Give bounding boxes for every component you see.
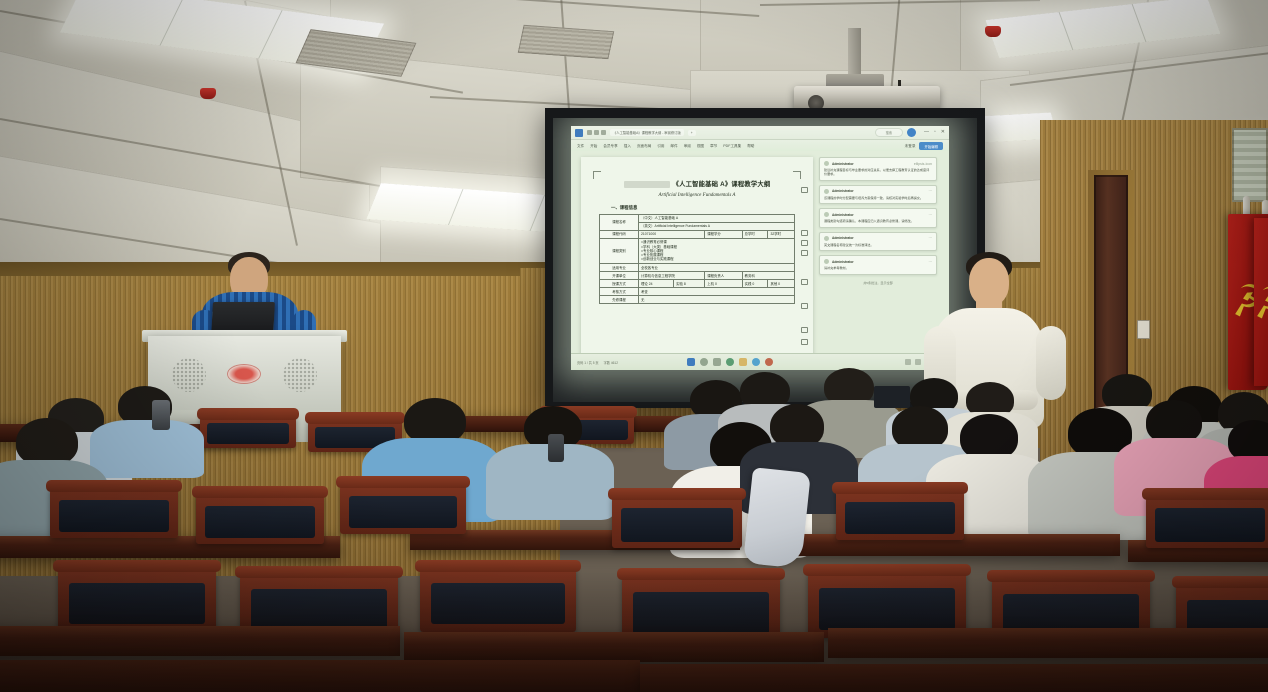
margin-corner-icon	[793, 171, 801, 179]
windows-start-icon[interactable]	[687, 358, 695, 366]
minimize-button[interactable]: —	[924, 130, 929, 135]
cell: 实验 8	[674, 280, 705, 288]
head	[969, 258, 1009, 306]
document-page[interactable]: 《人工智能基础 A》课程教学大纲 Artificial Intelligence…	[581, 157, 813, 361]
menu-item[interactable]: 审阅	[684, 144, 691, 149]
comment-anchor-icon[interactable]	[801, 240, 808, 246]
ellipsis-icon[interactable]: ellipsis-icon	[914, 162, 932, 166]
comment-author: Administrator	[832, 260, 854, 264]
section-heading: 一、课程信息	[611, 205, 813, 211]
avatar[interactable]	[907, 128, 916, 137]
row-label: 课程代码	[600, 231, 639, 239]
cell: 计算机与信息工程学院	[639, 272, 705, 280]
row-label: 先修课程	[600, 296, 639, 304]
comment-author: Administrator	[832, 162, 854, 166]
chair[interactable]	[420, 566, 576, 632]
comment-card[interactable]: Administrator ⋯ 课程类别勾选项请确认，本课程应归入通识教育必修课…	[819, 208, 937, 227]
table-row: 课程名称 （中文）人工智能基础 A	[600, 215, 795, 223]
university-crest	[227, 364, 261, 384]
hair	[16, 418, 78, 466]
document-title-text: 《人工智能基础 A》课程教学大纲	[673, 181, 771, 188]
comment-text: 课程类别勾选项请确认，本课程应归入通识教育必修课，请修改。	[824, 219, 932, 223]
comment-anchor-icon[interactable]	[801, 187, 808, 193]
comment-author: Administrator	[832, 189, 854, 193]
chair[interactable]	[612, 494, 742, 548]
cell: （中文）人工智能基础 A	[639, 215, 795, 223]
outline-view-icon[interactable]	[915, 359, 921, 365]
speaker-grille	[283, 358, 317, 392]
speaker-grille	[172, 358, 206, 392]
ellipsis-icon[interactable]: ⋯	[929, 236, 933, 240]
course-info-table: 课程名称 （中文）人工智能基础 A （英文）Artificial Intelli…	[599, 214, 795, 304]
search-icon[interactable]	[700, 358, 708, 366]
comment-anchor-icon[interactable]	[801, 303, 808, 309]
desk	[640, 664, 1268, 692]
comment-anchor-icon[interactable]	[801, 279, 808, 285]
windows-taskbar[interactable]	[687, 358, 773, 366]
comment-card[interactable]: Administrator ellipsis-icon 建议补充课程目标与毕业要…	[819, 157, 937, 181]
menu-item[interactable]: 文件	[577, 144, 584, 149]
comment-card[interactable]: Administrator ⋯ 该课程的学时分配需要与培养方案保持一致，请核对实…	[819, 185, 937, 204]
comment-avatar	[824, 161, 829, 166]
cell: 总学时	[742, 231, 768, 239]
cell: 考查	[639, 288, 795, 296]
search-input[interactable]: 搜索	[875, 128, 903, 137]
desk	[0, 626, 400, 656]
thermos[interactable]	[548, 434, 564, 462]
document-title: 《人工智能基础 A》课程教学大纲	[593, 179, 801, 188]
desk	[0, 660, 640, 692]
menu-item[interactable]: 开始	[590, 144, 597, 149]
menu-item[interactable]: 引用	[657, 144, 664, 149]
cell: （英文）Artificial Intelligence Fundamentals…	[639, 223, 795, 231]
folder-icon[interactable]	[739, 358, 747, 366]
menu-item[interactable]: 邮件	[671, 144, 678, 149]
comment-anchor-icon[interactable]	[801, 327, 808, 333]
projector-mount-pole	[848, 28, 861, 80]
cell: 32学时	[768, 231, 795, 239]
redo-icon[interactable]	[601, 130, 606, 135]
cell: 无	[639, 296, 795, 304]
chair[interactable]	[50, 486, 178, 538]
start-edit-button[interactable]: 开始编辑	[919, 142, 943, 150]
table-row: 考核方式 考查	[600, 288, 795, 296]
task-view-icon[interactable]	[713, 358, 721, 366]
status-bar[interactable]: 页码 1 / 共 5 页 字数 4612 100%	[571, 353, 949, 370]
comment-anchor-icon[interactable]	[801, 339, 808, 345]
margin-corner-icon	[593, 171, 601, 179]
chat-icon[interactable]	[752, 358, 760, 366]
close-button[interactable]: ✕	[941, 130, 945, 135]
chair[interactable]	[196, 492, 324, 544]
arm	[1036, 326, 1066, 400]
comment-avatar	[824, 212, 829, 217]
comment-text: 建议补充课程目标与毕业要求的对应关系，以便支撑工程教育认证的达成度评价要求。	[824, 168, 932, 177]
wps-office-window[interactable]: 《人工智能基础A》课程教学大纲 - 审阅修订版 + 搜索 — ▫ ✕ 文件 开始…	[571, 126, 949, 370]
row-label: 授课方式	[600, 280, 639, 288]
cell: 其他 0	[768, 280, 795, 288]
row-label: 考核方式	[600, 288, 639, 296]
ellipsis-icon[interactable]: ⋯	[929, 260, 933, 264]
browser-icon[interactable]	[726, 358, 734, 366]
menu-item[interactable]: 会员专享	[603, 144, 617, 149]
window-title-bar: 《人工智能基础A》课程教学大纲 - 审阅修订版 + 搜索 — ▫ ✕	[571, 126, 949, 140]
comments-pane[interactable]: Administrator ellipsis-icon 建议补充课程目标与毕业要…	[819, 157, 937, 354]
light-switch[interactable]	[1137, 320, 1150, 339]
table-row: 课程类别 □通识教育必修课 □学科（大类）基础课程 □专业核心课程 □专业拓展课…	[600, 239, 795, 264]
comment-card[interactable]: Administrator ⋯ 英文课程名称建议统一为标准译法。	[819, 232, 937, 251]
thermos[interactable]	[152, 400, 170, 430]
wps-document-icon	[575, 129, 583, 137]
undo-icon[interactable]	[594, 130, 599, 135]
window-blinds	[1232, 128, 1268, 202]
comment-author: Administrator	[832, 213, 854, 217]
new-tab-button[interactable]: +	[688, 130, 696, 136]
comment-text: 请补充参考教材。	[824, 266, 932, 270]
fire-sprinkler-icon	[200, 88, 216, 99]
redacted-block	[624, 181, 670, 188]
save-icon[interactable]	[587, 130, 592, 135]
cell: 上机 0	[705, 280, 742, 288]
checkbox-option[interactable]: □创新创业与实践课程	[641, 257, 792, 261]
quick-access-toolbar[interactable]	[587, 130, 606, 135]
comment-text: 英文课程名称建议统一为标准译法。	[824, 243, 932, 247]
party-flag: ☭	[1254, 218, 1268, 386]
row-label: 课程名称	[600, 215, 639, 231]
projection-screen: 《人工智能基础A》课程教学大纲 - 审阅修订版 + 搜索 — ▫ ✕ 文件 开始…	[553, 118, 977, 402]
table-row: 先修课程 无	[600, 296, 795, 304]
lecture-hall-photo: ☭ ☭ 《人工智能基础A》课程教学大纲 - 审阅修订版 + 搜索	[0, 0, 1268, 692]
document-subtitle: Artificial Intelligence Fundamentals A	[593, 193, 801, 198]
menu-item[interactable]: 视图	[697, 144, 704, 149]
chair[interactable]	[340, 482, 466, 534]
comment-author: Administrator	[832, 236, 854, 240]
row-label: 课程类别	[600, 239, 639, 264]
comments-footer-note: 共5条批注，显示全部	[819, 281, 937, 285]
menu-item[interactable]: PDF工具集	[723, 144, 741, 149]
document-tab[interactable]: 《人工智能基础A》课程教学大纲 - 审阅修订版	[610, 129, 684, 136]
login-status[interactable]: 未登录	[905, 144, 916, 149]
menu-item[interactable]: 插入	[624, 144, 631, 149]
comment-avatar	[824, 236, 829, 241]
row-label: 适用专业	[600, 264, 639, 272]
table-row: 开课单位 计算机与信息工程学院 课程负责人 教务科	[600, 272, 795, 280]
table-row: 适用专业 全校各专业	[600, 264, 795, 272]
menu-item[interactable]: 章节	[710, 144, 717, 149]
ellipsis-icon[interactable]: ⋯	[929, 189, 933, 193]
comment-avatar	[824, 189, 829, 194]
audience-laptop[interactable]	[874, 386, 910, 408]
desk	[404, 632, 824, 662]
comment-avatar	[824, 259, 829, 264]
torso	[90, 420, 204, 478]
chair[interactable]	[58, 566, 216, 632]
table-row: 授课方式 理论 24 实验 8 上机 0 实践 0 其他 0	[600, 280, 795, 288]
desk	[828, 628, 1268, 658]
comment-anchor-icon[interactable]	[801, 230, 808, 236]
chair[interactable]	[1146, 494, 1268, 548]
menu-item[interactable]: 帮助	[747, 144, 754, 149]
page-indicator: 页码 1 / 共 5 页	[577, 360, 599, 365]
comment-text: 该课程的学时分配需要与培养方案保持一致，请核对实验学时后再提交。	[824, 196, 932, 200]
word-count: 字数 4612	[604, 360, 618, 365]
menu-item[interactable]: 页面布局	[637, 144, 651, 149]
mail-icon[interactable]	[765, 358, 773, 366]
document-workspace[interactable]: 《人工智能基础 A》课程教学大纲 Artificial Intelligence…	[571, 151, 949, 354]
cell: 理论 24	[639, 280, 674, 288]
chair[interactable]	[836, 488, 964, 540]
page-view-icon[interactable]	[905, 359, 911, 365]
comment-card[interactable]: Administrator ⋯ 请补充参考教材。	[819, 255, 937, 274]
ellipsis-icon[interactable]: ⋯	[929, 213, 933, 217]
cell: 课程负责人	[705, 272, 742, 280]
window-controls[interactable]: — ▫ ✕	[924, 130, 945, 135]
comment-anchor-icon[interactable]	[801, 250, 808, 256]
lectern	[148, 336, 341, 414]
chair[interactable]	[200, 414, 296, 448]
cell: 课程学分	[705, 231, 742, 239]
maximize-button[interactable]: ▫	[934, 130, 936, 135]
cell: 实践 0	[742, 280, 768, 288]
table-row: 课程代码 21071000 课程学分 总学时 32学时	[600, 231, 795, 239]
cell: 全校各专业	[639, 264, 795, 272]
row-label: 开课单位	[600, 272, 639, 280]
cell: 21071000	[639, 231, 705, 239]
fire-sprinkler-icon	[985, 26, 1001, 37]
cell: □通识教育必修课 □学科（大类）基础课程 □专业核心课程 □专业拓展课程 □创新…	[639, 239, 795, 264]
cell: 教务科	[742, 272, 794, 280]
